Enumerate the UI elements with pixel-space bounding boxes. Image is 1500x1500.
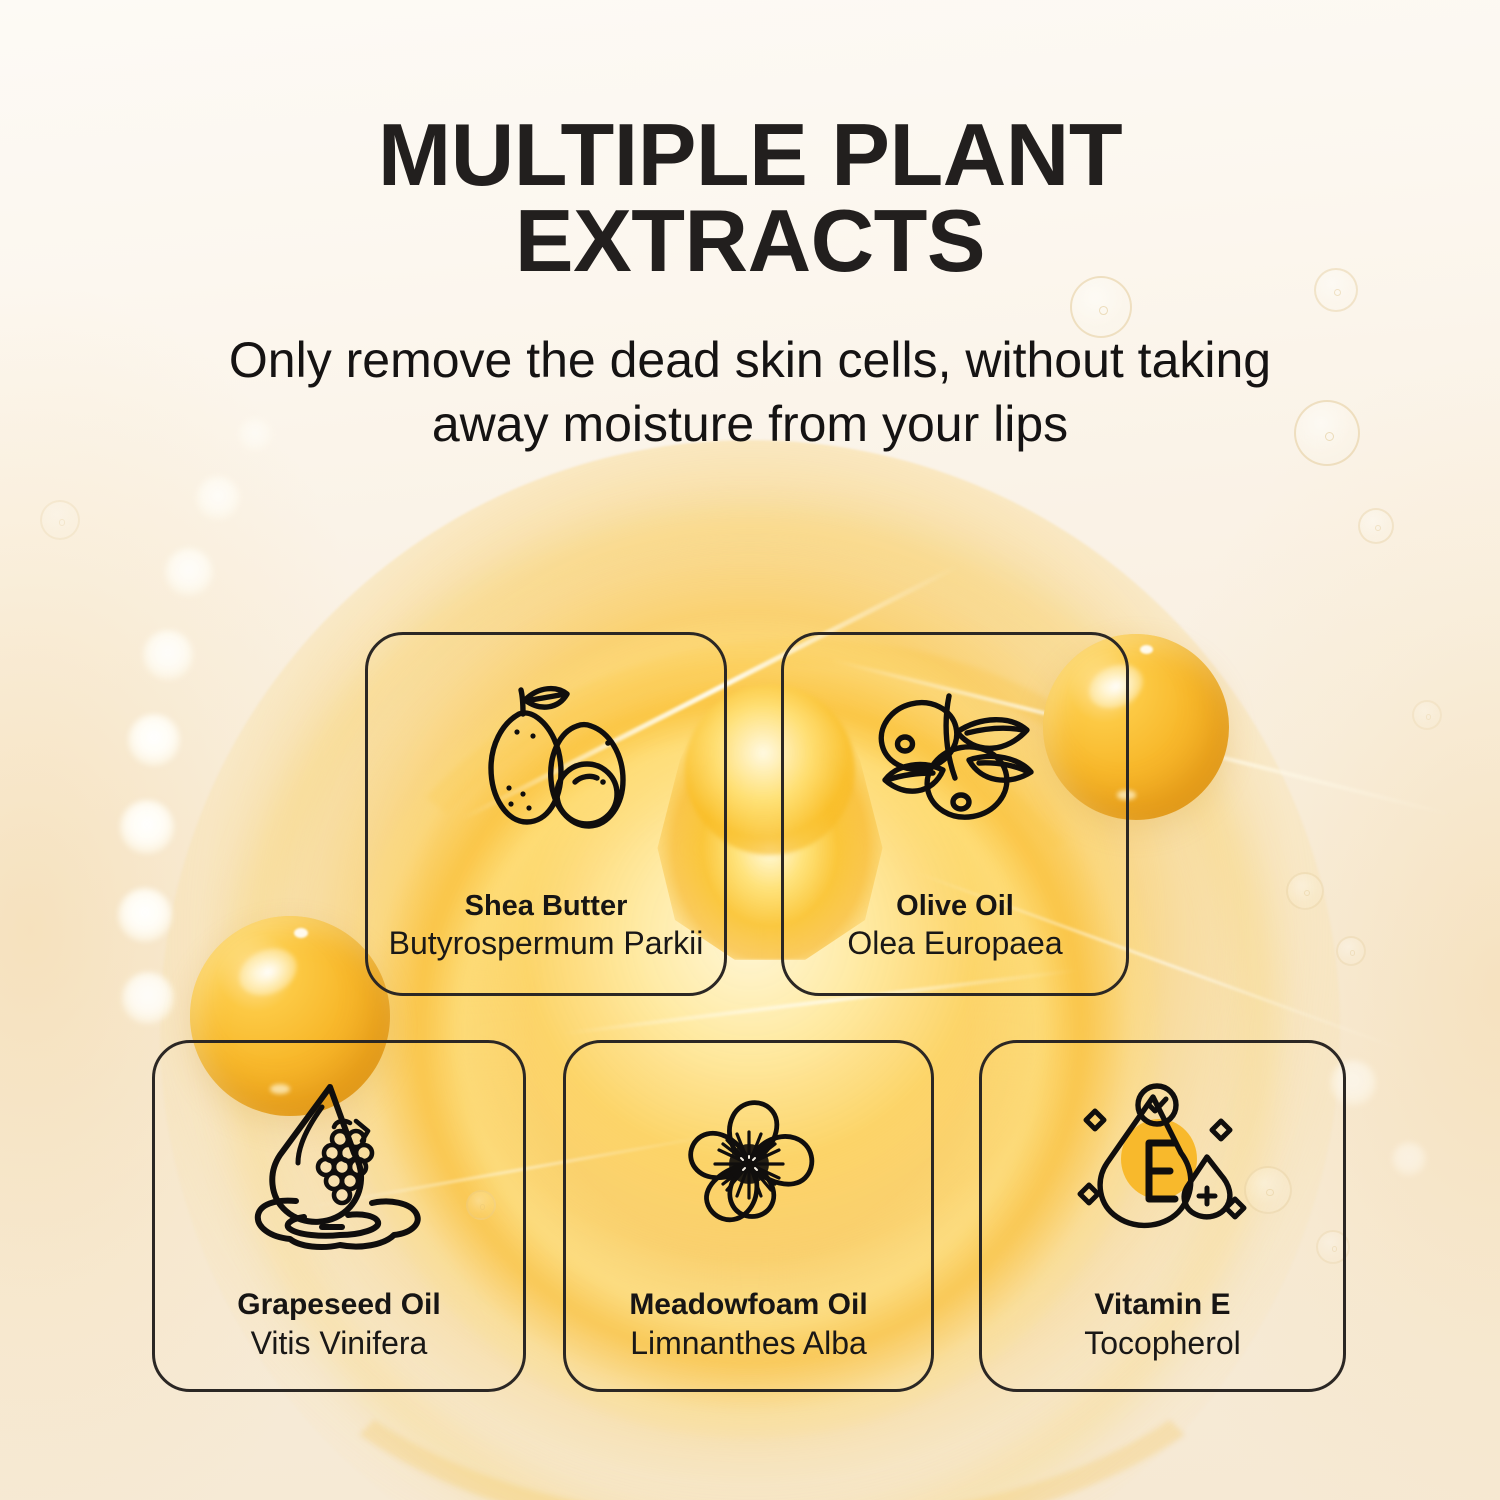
pear-avocado-icon [453, 676, 639, 848]
ingredient-latin-name: Limnanthes Alba [566, 1324, 931, 1363]
card-labels: Grapeseed Oil Vitis Vinifera [155, 1287, 523, 1389]
ingredient-name: Meadowfoam Oil [566, 1287, 931, 1324]
ingredient-card-grapeseed-oil[interactable]: Grapeseed Oil Vitis Vinifera [152, 1040, 526, 1392]
oil-bubble [1358, 508, 1394, 544]
ingredient-name: Shea Butter [368, 889, 724, 924]
headline-line-2: EXTRACTS [0, 198, 1500, 284]
grape-droplet-icon [244, 1077, 434, 1253]
bokeh-dot [143, 630, 193, 680]
ingredient-latin-name: Butyrospermum Parkii [368, 924, 724, 963]
oil-bubble [1286, 872, 1324, 910]
bokeh-dot [122, 972, 174, 1024]
page-subtitle: Only remove the dead skin cells, without… [0, 328, 1500, 456]
orb-highlight-small [294, 928, 308, 938]
bokeh-dot [196, 476, 240, 520]
flower-icon [661, 1080, 837, 1250]
bokeh-dot [128, 714, 180, 766]
olive-branch-icon [857, 674, 1053, 850]
bokeh-dot [1392, 1142, 1426, 1176]
vitamin-e-droplet-icon [1071, 1081, 1255, 1249]
ingredient-latin-name: Tocopherol [982, 1324, 1343, 1363]
icon-container [784, 635, 1126, 889]
card-labels: Olive Oil Olea Europaea [784, 889, 1126, 993]
subtitle-line-2: away moisture from your lips [0, 392, 1500, 456]
subtitle-line-1: Only remove the dead skin cells, without… [229, 332, 1271, 388]
ingredient-card-meadowfoam-oil[interactable]: Meadowfoam Oil Limnanthes Alba [563, 1040, 934, 1392]
card-labels: Shea Butter Butyrospermum Parkii [368, 889, 724, 993]
icon-container [982, 1043, 1343, 1287]
icon-container [368, 635, 724, 889]
ingredient-card-shea-butter[interactable]: Shea Butter Butyrospermum Parkii [365, 632, 727, 996]
ingredient-card-vitamin-e[interactable]: Vitamin E Tocopherol [979, 1040, 1346, 1392]
oil-bubble [1412, 700, 1442, 730]
card-labels: Meadowfoam Oil Limnanthes Alba [566, 1287, 931, 1389]
bokeh-dot [120, 800, 174, 854]
icon-container [566, 1043, 931, 1287]
orb-highlight [232, 940, 305, 1005]
icon-container [155, 1043, 523, 1287]
card-labels: Vitamin E Tocopherol [982, 1287, 1343, 1389]
page-title: MULTIPLE PLANT EXTRACTS [0, 112, 1500, 284]
oil-bubble [40, 500, 80, 540]
ingredient-name: Vitamin E [982, 1287, 1343, 1324]
orb-highlight-small [1140, 645, 1153, 654]
infographic-poster: MULTIPLE PLANT EXTRACTS Only remove the … [0, 0, 1500, 1500]
ingredient-name: Grapeseed Oil [155, 1287, 523, 1324]
bokeh-dot [118, 888, 172, 942]
ingredient-latin-name: Olea Europaea [784, 924, 1126, 963]
ingredient-latin-name: Vitis Vinifera [155, 1324, 523, 1363]
bokeh-dot [165, 548, 213, 596]
ingredient-card-olive-oil[interactable]: Olive Oil Olea Europaea [781, 632, 1129, 996]
ingredient-name: Olive Oil [784, 889, 1126, 924]
headline-line-1: MULTIPLE PLANT [378, 105, 1122, 204]
oil-bubble [1336, 936, 1366, 966]
